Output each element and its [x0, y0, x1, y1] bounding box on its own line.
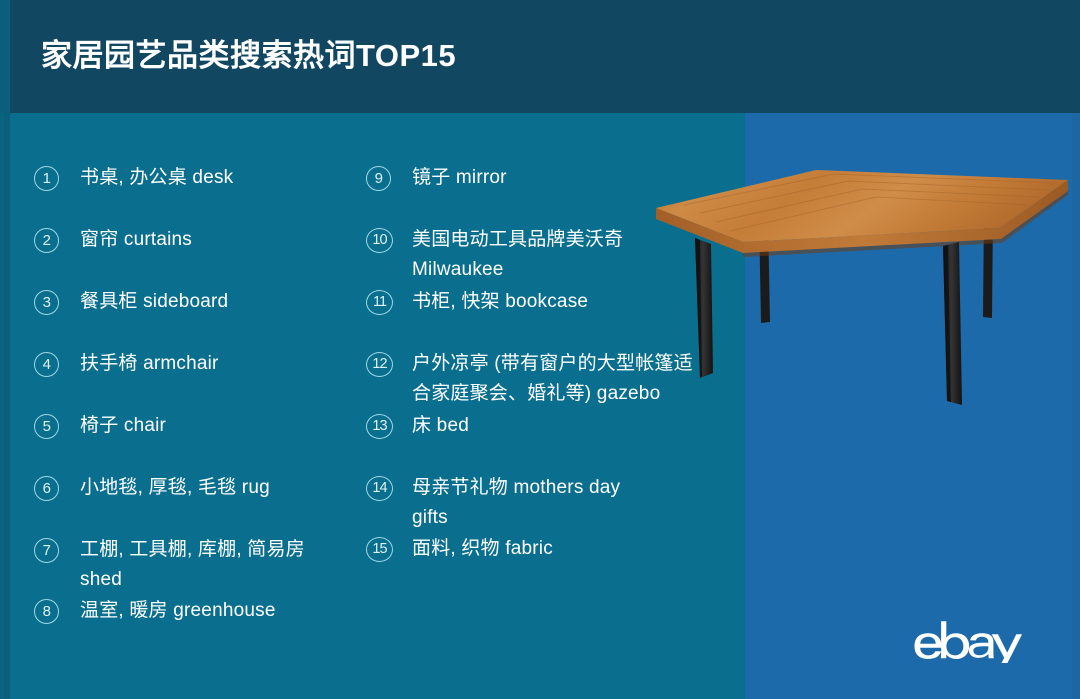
- rank-badge-2: 2: [34, 228, 72, 254]
- rank-badge-9: 9: [366, 166, 404, 192]
- keyword-label: 面料, 织物 fabric: [404, 534, 553, 564]
- keyword-label: 美国电动工具品牌美沃奇 Milwaukee: [404, 225, 666, 285]
- keyword-label: 窗帘 curtains: [72, 225, 192, 255]
- keyword-label: 扶手椅 armchair: [72, 349, 219, 379]
- rank-number: 15: [366, 537, 393, 562]
- keyword-label: 镜子 mirror: [404, 163, 507, 193]
- rank-badge-3: 3: [34, 290, 72, 316]
- rank-number: 4: [34, 352, 59, 377]
- rank-number: 6: [34, 476, 59, 501]
- rank-badge-1: 1: [34, 166, 72, 192]
- list-item[interactable]: 1 书桌, 办公桌 desk: [34, 163, 233, 193]
- list-item[interactable]: 2 窗帘 curtains: [34, 225, 192, 255]
- rank-number: 1: [34, 166, 59, 191]
- rank-number: 11: [366, 290, 393, 315]
- left-frame-stripe: [0, 0, 10, 699]
- keyword-label: 餐具柜 sideboard: [72, 287, 228, 317]
- keyword-label: 小地毯, 厚毯, 毛毯 rug: [72, 473, 270, 503]
- list-item[interactable]: 14 母亲节礼物 mothers day gifts: [366, 473, 626, 533]
- rank-number: 13: [366, 414, 393, 439]
- page-title: 家居园艺品类搜索热词TOP15: [41, 40, 456, 71]
- list-item[interactable]: 13 床 bed: [366, 411, 469, 441]
- list-item[interactable]: 3 餐具柜 sideboard: [34, 287, 228, 317]
- list-item[interactable]: 7 工棚, 工具棚, 库棚, 简易房 shed: [34, 535, 334, 595]
- rank-badge-8: 8: [34, 599, 72, 625]
- keyword-label: 工棚, 工具棚, 库棚, 简易房 shed: [72, 535, 334, 595]
- keyword-label: 户外凉亭 (带有窗户的大型帐篷适合家庭聚会、婚礼等) gazebo: [404, 349, 706, 409]
- keyword-label: 书桌, 办公桌 desk: [72, 163, 233, 193]
- rank-badge-7: 7: [34, 538, 72, 564]
- rank-number: 3: [34, 290, 59, 315]
- rank-badge-15: 15: [366, 537, 404, 563]
- rank-badge-10: 10: [366, 228, 404, 254]
- list-item[interactable]: 10 美国电动工具品牌美沃奇 Milwaukee: [366, 225, 666, 285]
- rank-number: 2: [34, 228, 59, 253]
- rank-number: 10: [366, 228, 393, 253]
- list-item[interactable]: 6 小地毯, 厚毯, 毛毯 rug: [34, 473, 270, 503]
- header-band: 家居园艺品类搜索热词TOP15: [0, 0, 1080, 113]
- rank-badge-6: 6: [34, 476, 72, 502]
- infographic-poster: 1 书桌, 办公桌 desk 2 窗帘 curtains 3 餐具柜 sideb…: [0, 0, 1080, 699]
- list-item[interactable]: 11 书柜, 快架 bookcase: [366, 287, 588, 317]
- rank-number: 7: [34, 538, 59, 563]
- header-inner: 家居园艺品类搜索热词TOP15: [10, 0, 1080, 113]
- keyword-label: 书柜, 快架 bookcase: [404, 287, 588, 317]
- rank-number: 12: [366, 352, 393, 377]
- list-item[interactable]: 5 椅子 chair: [34, 411, 166, 441]
- keyword-label: 温室, 暖房 greenhouse: [72, 596, 276, 626]
- rank-number: 14: [366, 476, 393, 501]
- rank-badge-4: 4: [34, 352, 72, 378]
- rank-badge-13: 13: [366, 414, 404, 440]
- list-item[interactable]: 15 面料, 织物 fabric: [366, 534, 553, 564]
- rank-badge-12: 12: [366, 352, 404, 378]
- keyword-label: 母亲节礼物 mothers day gifts: [404, 473, 626, 533]
- keyword-label: 床 bed: [404, 411, 469, 441]
- rank-badge-5: 5: [34, 414, 72, 440]
- rank-number: 5: [34, 414, 59, 439]
- rank-badge-14: 14: [366, 476, 404, 502]
- ebay-logo: [912, 611, 1034, 663]
- list-item[interactable]: 12 户外凉亭 (带有窗户的大型帐篷适合家庭聚会、婚礼等) gazebo: [366, 349, 706, 409]
- list-item[interactable]: 8 温室, 暖房 greenhouse: [34, 596, 276, 626]
- rank-badge-11: 11: [366, 290, 404, 316]
- list-item[interactable]: 4 扶手椅 armchair: [34, 349, 219, 379]
- keyword-label: 椅子 chair: [72, 411, 166, 441]
- left-frame-inner: [0, 113, 4, 699]
- rank-number: 8: [34, 599, 59, 624]
- list-item[interactable]: 9 镜子 mirror: [366, 163, 507, 193]
- rank-number: 9: [366, 166, 391, 191]
